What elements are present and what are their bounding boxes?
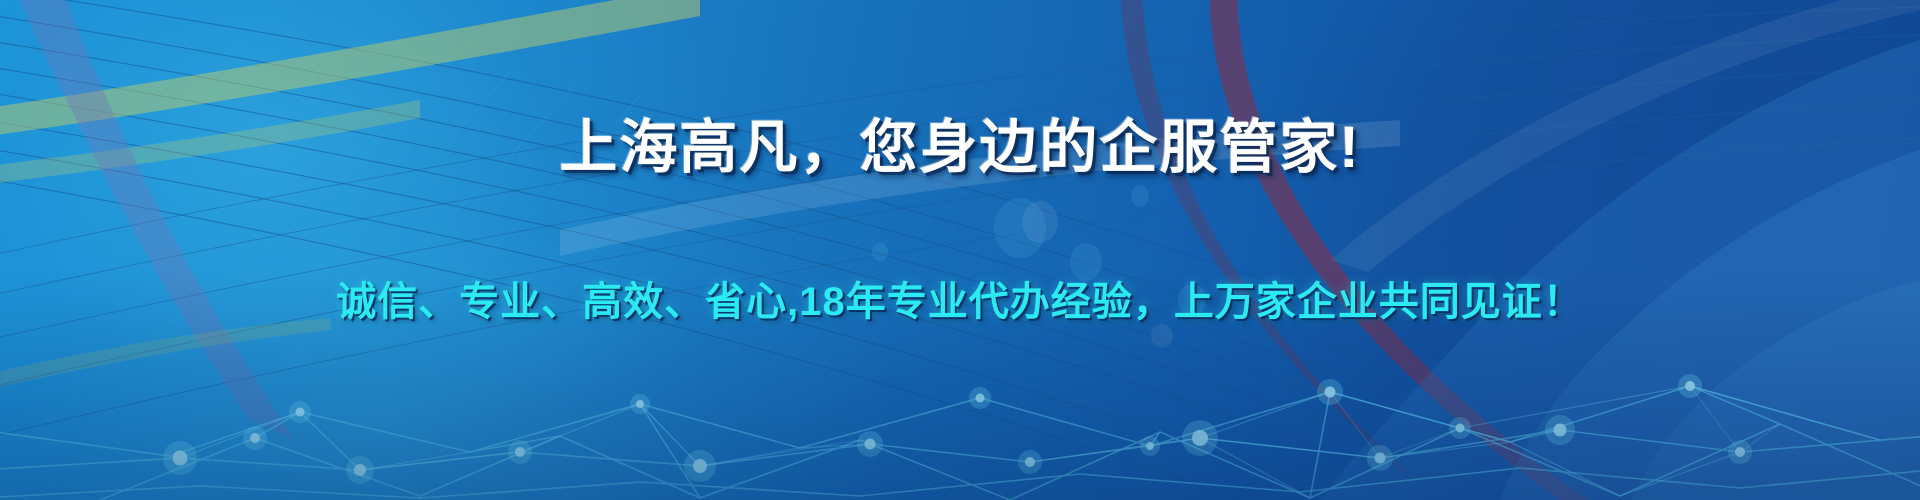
- promo-banner: 上海高凡，您身边的企服管家! 诚信、专业、高效、省心,18年专业代办经验，上万家…: [0, 0, 1920, 500]
- banner-subheadline: 诚信、专业、高效、省心,18年专业代办经验，上万家企业共同见证！: [0, 274, 1920, 330]
- banner-text-block: 上海高凡，您身边的企服管家! 诚信、专业、高效、省心,18年专业代办经验，上万家…: [0, 0, 1920, 500]
- banner-headline: 上海高凡，您身边的企服管家!: [0, 112, 1920, 184]
